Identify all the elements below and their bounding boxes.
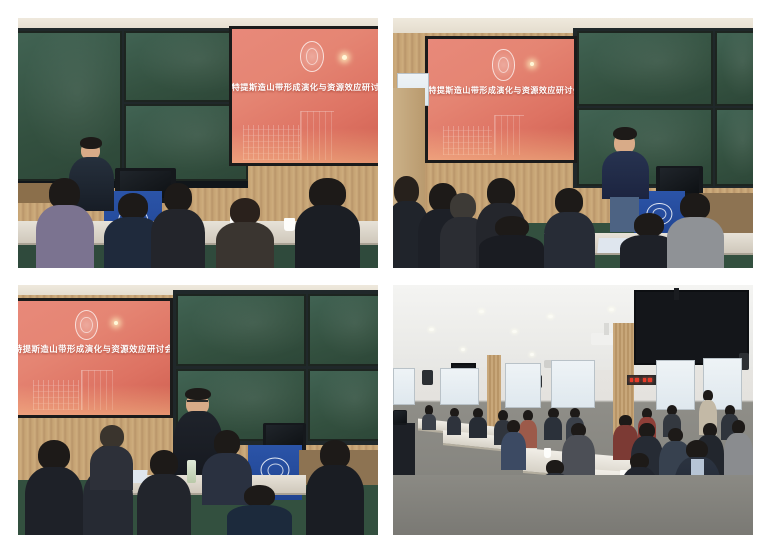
attendee-torso xyxy=(137,474,191,535)
window xyxy=(551,360,594,408)
attendee xyxy=(479,216,544,269)
attendee-torso xyxy=(422,414,436,431)
presentation-slide: 特提斯造山带形成演化与资源效应研讨会 xyxy=(232,29,378,163)
projection-screen-frame: 特提斯造山带形成演化与资源效应研讨会 xyxy=(229,26,378,166)
projection-screen-frame: 特提斯造山带形成演化与资源效应研讨会 xyxy=(425,36,576,164)
presentation-slide: 特提斯造山带形成演化与资源效应研讨会 xyxy=(18,301,170,415)
attendee xyxy=(667,193,725,268)
photo-bottom-right[interactable] xyxy=(393,285,753,535)
wall-speaker xyxy=(422,370,433,385)
led-clock-display xyxy=(627,375,659,385)
attendee-torso xyxy=(479,235,544,268)
attendee-head xyxy=(164,183,192,212)
presenter-sweater xyxy=(602,151,649,199)
ceiling-light xyxy=(429,328,434,331)
light-spark-icon xyxy=(530,62,534,66)
attendee-head xyxy=(309,178,345,209)
presenter-hair xyxy=(613,127,636,141)
flat-screen-tv xyxy=(634,290,749,365)
presenter-hair xyxy=(185,388,210,401)
attendee xyxy=(469,408,487,438)
led-segment xyxy=(643,378,647,383)
slide-bottom-glow xyxy=(18,385,170,415)
attendee-head xyxy=(38,440,70,470)
attendee-torso xyxy=(216,222,274,268)
led-segment xyxy=(630,378,634,383)
attendee-torso xyxy=(469,417,487,438)
slide-headline: 特提斯造山带形成演化与资源效应研讨会 xyxy=(18,343,170,355)
window xyxy=(440,368,480,406)
window xyxy=(656,360,696,410)
paper-cup xyxy=(544,448,551,458)
lectern-monitor xyxy=(393,410,407,425)
presenter-glasses-icon xyxy=(187,400,207,402)
attendee xyxy=(216,198,274,268)
collage-sheet: 特提斯造山带形成演化与资源效应研讨会 xyxy=(0,0,771,540)
attendee xyxy=(295,178,360,268)
chalkboard-center xyxy=(577,31,714,106)
photo-grid: 特提斯造山带形成演化与资源效应研讨会 xyxy=(18,18,753,535)
attendee-torso xyxy=(25,467,83,535)
slide-headline: 特提斯造山带形成演化与资源效应研讨会 xyxy=(232,81,378,93)
attendee-torso xyxy=(724,433,753,480)
photo-bottom-left[interactable]: 特提斯造山带形成演化与资源效应研讨会 xyxy=(18,285,378,535)
university-emblem-icon xyxy=(300,41,324,72)
chalkboard-far-right-upper xyxy=(715,31,753,106)
floor xyxy=(393,475,753,535)
ceiling-light xyxy=(512,330,517,333)
slide-headline: 特提斯造山带形成演化与资源效应研讨会 xyxy=(428,85,573,96)
photo-top-left[interactable]: 特提斯造山带形成演化与资源效应研讨会 xyxy=(18,18,378,268)
tv-mount-bracket xyxy=(674,288,679,301)
slide-bottom-glow xyxy=(232,128,378,163)
photo-top-right[interactable]: 特提斯造山带形成演化与资源效应研讨会 xyxy=(393,18,753,268)
attendee xyxy=(227,485,292,535)
attendee-head xyxy=(244,485,275,507)
attendee xyxy=(544,408,562,441)
university-emblem-icon xyxy=(75,310,99,341)
attendee-torso xyxy=(90,446,133,490)
projector-mount xyxy=(604,323,609,336)
light-spark-icon xyxy=(342,55,347,60)
attendee xyxy=(447,408,461,436)
paper-cup xyxy=(284,218,295,231)
attendee-torso xyxy=(667,217,725,268)
attendee xyxy=(137,450,191,535)
attendee-head xyxy=(495,216,529,238)
university-emblem-icon xyxy=(492,49,514,80)
ceiling-light xyxy=(461,348,465,351)
window xyxy=(393,368,415,406)
projection-screen-frame: 特提斯造山带形成演化与资源效应研讨会 xyxy=(18,298,173,418)
attendee-torso xyxy=(36,205,94,268)
attendee xyxy=(25,440,83,535)
led-segment xyxy=(635,378,639,383)
attendee-torso xyxy=(544,417,562,440)
attendee-torso xyxy=(227,505,292,535)
ceiling-light xyxy=(548,315,553,318)
presentation-slide: 特提斯造山带形成演化与资源效应研讨会 xyxy=(428,39,573,161)
attendee xyxy=(422,405,436,430)
attendee xyxy=(306,440,364,535)
attendee-torso xyxy=(544,212,594,268)
ceiling-light xyxy=(609,308,614,311)
slide-bottom-glow xyxy=(428,128,573,160)
attendee-head xyxy=(680,193,710,220)
attendee-head xyxy=(450,193,476,220)
attendee-torso xyxy=(306,465,364,535)
attendee xyxy=(36,178,94,268)
attendee-head xyxy=(49,178,80,209)
ceiling-light xyxy=(530,353,534,356)
attendee xyxy=(151,183,205,268)
attendee-head xyxy=(634,213,664,237)
window xyxy=(505,363,541,408)
attendee-torso xyxy=(295,205,360,268)
light-spark-icon xyxy=(114,321,118,325)
attendee xyxy=(724,420,753,480)
chalkboard-center xyxy=(176,294,306,367)
presenter-hair xyxy=(80,137,102,149)
chalkboard-right-upper xyxy=(308,294,378,367)
attendee xyxy=(544,188,594,268)
attendee xyxy=(501,420,526,470)
attendee-torso xyxy=(151,209,205,269)
attendee-head xyxy=(230,198,260,225)
attendee-head xyxy=(214,430,240,456)
attendee-head xyxy=(118,193,148,220)
attendee xyxy=(90,425,133,490)
attendee-head xyxy=(100,425,124,448)
attendee-torso xyxy=(447,416,461,435)
chalkboard-far-right-lower xyxy=(715,108,753,186)
led-segment xyxy=(648,378,652,383)
attendee-torso xyxy=(501,432,526,471)
chalkboard-right-lower xyxy=(308,369,378,442)
